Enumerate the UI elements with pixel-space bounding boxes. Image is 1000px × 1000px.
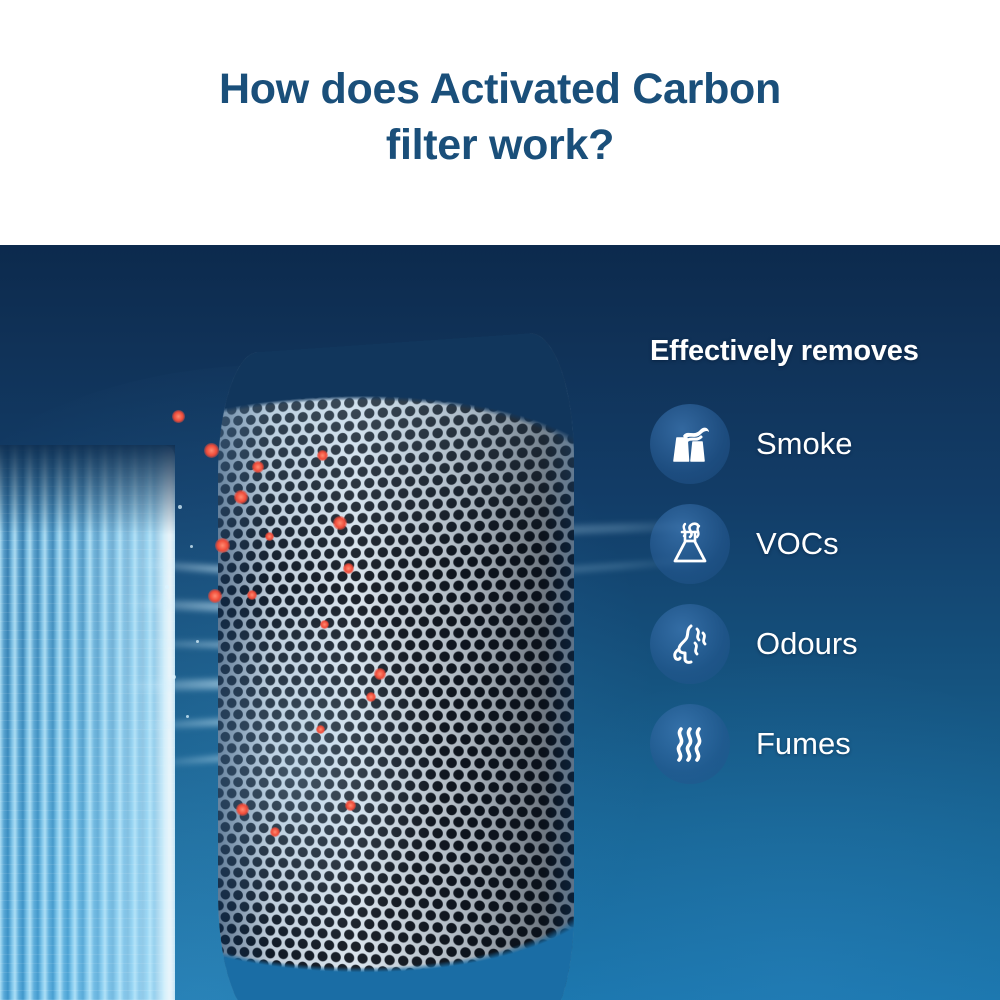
page-title: How does Activated Carbon filter work? bbox=[219, 62, 781, 182]
list-item-vocs[interactable]: VOCs bbox=[650, 494, 980, 594]
page-title-line-2: filter work? bbox=[219, 118, 781, 173]
factory-smokestack-icon bbox=[667, 423, 713, 465]
dust-speck bbox=[178, 505, 182, 509]
list-item-label: VOCs bbox=[756, 526, 839, 562]
mesh-top-curve-mask bbox=[218, 330, 574, 476]
fumes-icon-badge bbox=[650, 704, 730, 784]
list-item-odours[interactable]: Odours bbox=[650, 594, 980, 694]
list-item-label: Odours bbox=[756, 626, 858, 662]
pollutant-particle bbox=[204, 443, 219, 458]
product-infographic: How does Activated Carbon filter work? bbox=[0, 0, 1000, 1000]
page-title-line-1: How does Activated Carbon bbox=[219, 62, 781, 117]
activated-carbon-honeycomb-filter bbox=[218, 330, 574, 1000]
list-item-label: Fumes bbox=[756, 726, 851, 762]
pollutant-particle bbox=[172, 410, 185, 423]
flask-fumes-icon bbox=[668, 521, 712, 567]
smoke-icon-badge bbox=[650, 404, 730, 484]
vocs-icon-badge bbox=[650, 504, 730, 584]
list-item-smoke[interactable]: Smoke bbox=[650, 394, 980, 494]
effectively-removes-heading: Effectively removes bbox=[650, 335, 980, 368]
pre-filter-pleated-panel bbox=[0, 445, 175, 1000]
header-band: How does Activated Carbon filter work? bbox=[0, 0, 1000, 245]
dust-speck bbox=[190, 545, 193, 548]
list-item-fumes[interactable]: Fumes bbox=[650, 694, 980, 794]
wavy-lines-icon bbox=[668, 722, 712, 766]
dust-speck bbox=[186, 715, 189, 718]
effectively-removes-panel: Effectively removes Smoke bbox=[650, 335, 980, 794]
odours-icon-badge bbox=[650, 604, 730, 684]
list-item-label: Smoke bbox=[756, 426, 852, 462]
hero-panel: Effectively removes Smoke bbox=[0, 245, 1000, 1000]
pleat-top-fade bbox=[0, 445, 175, 535]
nose-profile-icon bbox=[667, 621, 713, 667]
dust-speck bbox=[196, 640, 199, 643]
mesh-bottom-curve-mask bbox=[218, 884, 574, 1000]
